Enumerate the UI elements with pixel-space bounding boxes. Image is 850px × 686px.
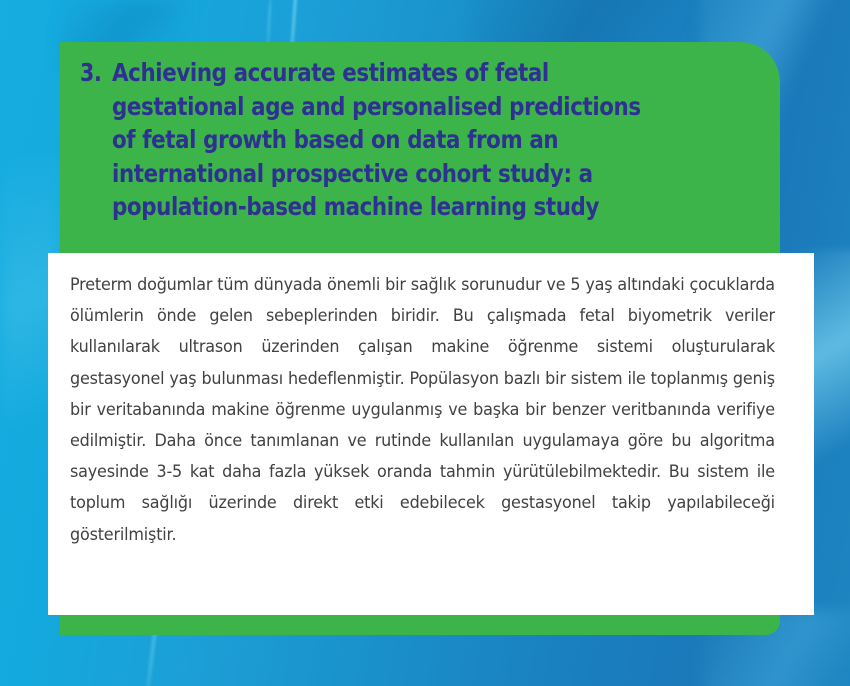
title-number: 3.	[80, 56, 109, 90]
abstract-body-text: Preterm doğumlar tüm dünyada önemli bir …	[70, 269, 775, 550]
abstract-card: Preterm doğumlar tüm dünyada önemli bir …	[48, 253, 814, 615]
title-block: 3. Achieving accurate estimates of fetal…	[80, 56, 760, 224]
page-title: Achieving accurate estimates of fetal ge…	[112, 56, 666, 224]
slide-root: 3. Achieving accurate estimates of fetal…	[0, 0, 850, 686]
